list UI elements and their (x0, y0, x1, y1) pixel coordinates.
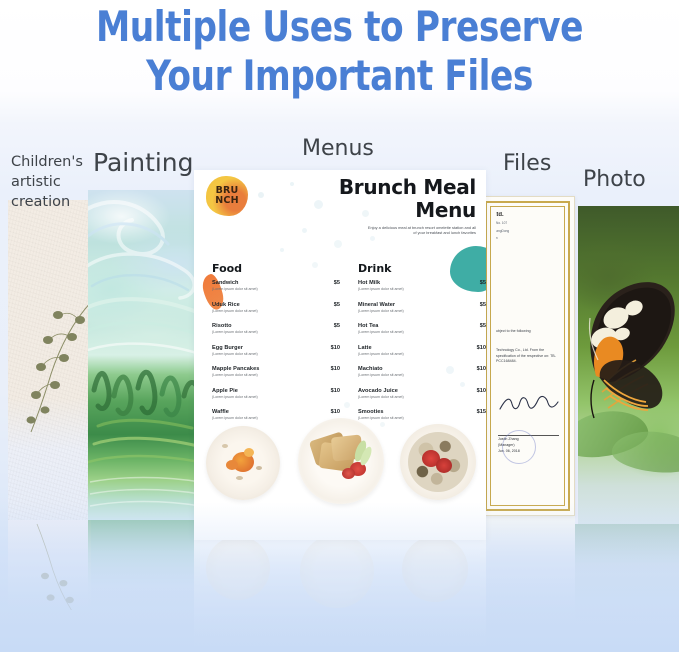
menu-item-row: Machiato(Lorem ipsum dolor sit amet)$10 (358, 366, 486, 388)
label-painting: Painting (93, 148, 194, 177)
menu-document-reflection (194, 540, 486, 648)
menu-item-subtitle: (Lorem ipsum dolor sit amet) (212, 352, 340, 357)
certificate-address-line-2: ChenZhen Province, GuangDong (496, 229, 559, 234)
menu-item-name: Risotto (212, 323, 340, 330)
menu-item-row: Mapple Pancakes(Lorem ipsum dolor sit am… (212, 366, 340, 388)
promo-banner: Multiple Uses to Preserve Your Important… (0, 0, 679, 652)
menu-item-price: $10 (331, 366, 340, 372)
painting-artwork (88, 190, 200, 520)
page-title-line-2: Your Important Files (61, 51, 618, 100)
drink-column-heading: Drink (358, 262, 391, 275)
certificate-document[interactable]: ology Co., Ltd. No. 168, National Road N… (480, 196, 575, 516)
menu-item-name: Uduk Rice (212, 302, 340, 309)
menu-item-price: $10 (477, 366, 486, 372)
signature-icon (498, 394, 559, 414)
food-item-list: Sandwich(Lorem ipsum dolor sit amet)$5Ud… (212, 280, 340, 431)
childrens-artwork-paper (8, 200, 91, 520)
menu-item-subtitle: (Lorem ipsum dolor sit amet) (358, 330, 486, 335)
certificate-paragraph-2: Technology Co., Ltd. From the specificat… (496, 348, 559, 364)
menu-item-price: $5 (334, 323, 340, 329)
menu-item-subtitle: (Lorem ipsum dolor sit amet) (358, 416, 486, 421)
menu-item-price: $10 (477, 388, 486, 394)
butterfly-photo-reflection (575, 524, 679, 624)
certificate-line-3: a, (496, 298, 559, 303)
menu-item-price: $5 (334, 280, 340, 286)
certificate-reflection (480, 516, 575, 612)
menu-item-name: Avocado Juice (358, 388, 486, 395)
painting-brushstrokes (88, 190, 200, 520)
certificate-company: ology Co., Ltd. (496, 212, 559, 218)
menu-item-price: $15 (477, 409, 486, 415)
label-childrens-creation: Children's artistic creation (11, 152, 91, 212)
menu-item-subtitle: (Lorem ipsum dolor sit amet) (212, 309, 340, 314)
menu-item-subtitle: (Lorem ipsum dolor sit amet) (358, 373, 486, 378)
menu-item-name: Mineral Water (358, 302, 486, 309)
menu-item-row: Egg Burger(Lorem ipsum dolor sit amet)$1… (212, 345, 340, 367)
menu-item-name: Apple Pie (212, 388, 340, 395)
brunch-logo-line-2: NCH (215, 196, 238, 207)
menu-item-name: Waffle (212, 409, 340, 416)
menu-item-row: Mineral Water(Lorem ipsum dolor sit amet… (358, 302, 486, 324)
menu-item-subtitle: (Lorem ipsum dolor sit amet) (212, 330, 340, 335)
menu-item-row: Avocado Juice(Lorem ipsum dolor sit amet… (358, 388, 486, 410)
menu-item-name: Sandwich (212, 280, 340, 287)
menu-item-price: $10 (477, 345, 486, 351)
certificate-paragraph-1: ubject to the following (496, 329, 559, 334)
food-photo-oatmeal (206, 426, 280, 500)
menu-item-row: Hot Milk(Lorem ipsum dolor sit amet)$5 (358, 280, 486, 302)
certificate-address-line-1: No. 168, National Road No. 107 (496, 221, 559, 226)
menu-description: Enjoy a delicious meal at brunch resort … (366, 225, 476, 236)
label-files: Files (503, 151, 551, 176)
menu-item-row: Risotto(Lorem ipsum dolor sit amet)$5 (212, 323, 340, 345)
menu-item-row: Hot Tea(Lorem ipsum dolor sit amet)$5 (358, 323, 486, 345)
menu-item-name: Machiato (358, 366, 486, 373)
childrens-artwork-reflection (8, 520, 91, 610)
butterfly-photo (575, 206, 679, 524)
menu-item-subtitle: (Lorem ipsum dolor sit amet) (358, 352, 486, 357)
menu-title: Brunch Meal Menu (301, 176, 476, 222)
menu-item-price: $5 (334, 302, 340, 308)
certificate-stamp-icon (502, 430, 536, 464)
menu-item-subtitle: (Lorem ipsum dolor sit amet) (212, 287, 340, 292)
certificate-line-2: a, XinTang Village, (496, 283, 559, 288)
label-photo: Photo (583, 167, 646, 192)
menu-item-name: Hot Tea (358, 323, 486, 330)
menu-item-price: $10 (331, 409, 340, 415)
menu-item-row: Sandwich(Lorem ipsum dolor sit amet)$5 (212, 280, 340, 302)
botanical-sprig-icon (25, 292, 91, 442)
menu-item-price: $10 (331, 345, 340, 351)
menu-item-row: Apple Pie(Lorem ipsum dolor sit amet)$10 (212, 388, 340, 410)
menu-document[interactable]: BRU NCH Brunch Meal Menu Enjoy a delicio… (194, 170, 486, 540)
menu-item-subtitle: (Lorem ipsum dolor sit amet) (212, 395, 340, 400)
menu-item-subtitle: (Lorem ipsum dolor sit amet) (212, 373, 340, 378)
menu-item-subtitle: (Lorem ipsum dolor sit amet) (358, 309, 486, 314)
page-title: Multiple Uses to Preserve Your Important… (0, 0, 679, 100)
menu-item-subtitle: (Lorem ipsum dolor sit amet) (358, 287, 486, 292)
brunch-logo: BRU NCH (206, 176, 248, 216)
page-title-line-1: Multiple Uses to Preserve (61, 2, 618, 51)
botanical-sprig-reflection-icon (25, 520, 91, 610)
menu-item-name: Smooties (358, 409, 486, 416)
drink-item-list: Hot Milk(Lorem ipsum dolor sit amet)$5Mi… (358, 280, 486, 431)
food-column-heading: Food (212, 262, 242, 275)
food-photo-granola (400, 424, 476, 500)
butterfly-icon (578, 256, 679, 426)
menu-item-price: $5 (480, 302, 486, 308)
painting-reflection (88, 520, 200, 615)
menu-item-row: Latte(Lorem ipsum dolor sit amet)$10 (358, 345, 486, 367)
menu-item-price: $10 (331, 388, 340, 394)
certificate-title: ORMITY (496, 250, 559, 260)
menu-item-name: Egg Burger (212, 345, 340, 352)
menu-item-subtitle: (Lorem ipsum dolor sit amet) (358, 395, 486, 400)
menu-item-name: Hot Milk (358, 280, 486, 287)
food-photo-toast (298, 418, 384, 504)
menu-item-name: Mapple Pancakes (212, 366, 340, 373)
certificate-line-1: t, XinTang Village, (496, 269, 559, 274)
menu-item-price: $5 (480, 280, 486, 286)
menu-item-price: $5 (480, 323, 486, 329)
menu-item-row: Uduk Rice(Lorem ipsum dolor sit amet)$5 (212, 302, 340, 324)
menu-item-subtitle: (Lorem ipsum dolor sit amet) (212, 416, 340, 421)
certificate-address-line-3: (518103) www.holylab.cn (496, 236, 559, 241)
label-menus: Menus (302, 136, 374, 161)
menu-item-name: Latte (358, 345, 486, 352)
certificate-body: ology Co., Ltd. No. 168, National Road N… (496, 212, 559, 500)
